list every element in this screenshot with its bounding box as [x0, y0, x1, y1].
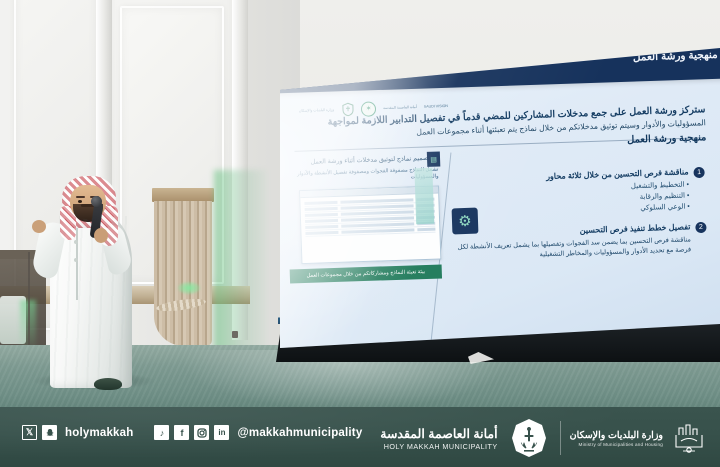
- footer-divider: [560, 421, 561, 455]
- microphone-head: [91, 196, 102, 207]
- shoe: [94, 378, 122, 390]
- curtain-valance: [152, 188, 214, 202]
- makkah-municipality-arabic: أمانة العاصمة المقدسة: [380, 426, 497, 441]
- eye-left: [78, 200, 82, 203]
- screenshot-root: منهجية ورشة العمل وزارة البلديات والإسكا…: [0, 0, 720, 467]
- ministry-wordmark: وزارة البلديات والإسكان Ministry of Muni…: [570, 430, 663, 447]
- projection-screen: منهجية ورشة العمل وزارة البلديات والإسكا…: [280, 48, 720, 348]
- makkah-municipality-emblem-icon: [507, 417, 551, 459]
- wall-outlet: [232, 331, 238, 338]
- left-hand: [32, 220, 46, 233]
- x-twitter-icon[interactable]: 𝕏: [22, 425, 37, 440]
- tiktok-icon[interactable]: ♪: [154, 425, 169, 440]
- ministry-english: Ministry of Municipalities and Housing: [570, 442, 663, 447]
- makkah-municipality-wordmark: أمانة العاصمة المقدسة HOLY MAKKAH MUNICI…: [380, 426, 497, 451]
- linkedin-icon[interactable]: in: [214, 425, 229, 440]
- right-hand: [94, 228, 108, 243]
- facebook-icon[interactable]: f: [174, 425, 189, 440]
- ministry-of-municipalities-emblem-icon: [672, 421, 706, 455]
- green-accent-light: [214, 170, 266, 355]
- slide-header-accent: [322, 48, 418, 60]
- footer-logo-group: أمانة العاصمة المقدسة HOLY MAKKAH MUNICI…: [380, 417, 706, 459]
- social-handle-holymakkah[interactable]: holymakkah: [65, 427, 133, 439]
- thobe-button-bottom: [74, 258, 78, 262]
- curtain: [152, 188, 214, 346]
- thobe-placket: [76, 228, 78, 300]
- social-handle-makkahmunicipality[interactable]: @makkahmunicipality: [237, 427, 362, 439]
- thobe-button-top: [74, 240, 78, 244]
- makkah-municipality-english: HOLY MAKKAH MUNICIPALITY: [380, 442, 497, 451]
- curtain-fabric: [154, 201, 212, 346]
- snapchat-icon[interactable]: [42, 425, 57, 440]
- projected-slide: منهجية ورشة العمل وزارة البلديات والإسكا…: [280, 48, 720, 348]
- speaker-person: [38, 176, 154, 398]
- eyebrow-left: [76, 196, 85, 198]
- branding-footer: 𝕏 holymakkah ♪ f in @makkahmunicipality …: [0, 407, 720, 467]
- screen-hotspot: [280, 48, 450, 348]
- microphone-stand: [28, 252, 30, 352]
- instagram-icon[interactable]: [194, 425, 209, 440]
- social-media-bar: 𝕏 holymakkah ♪ f in @makkahmunicipality: [22, 425, 365, 440]
- green-light-fixture: [178, 282, 200, 294]
- ministry-arabic: وزارة البلديات والإسكان: [570, 430, 663, 441]
